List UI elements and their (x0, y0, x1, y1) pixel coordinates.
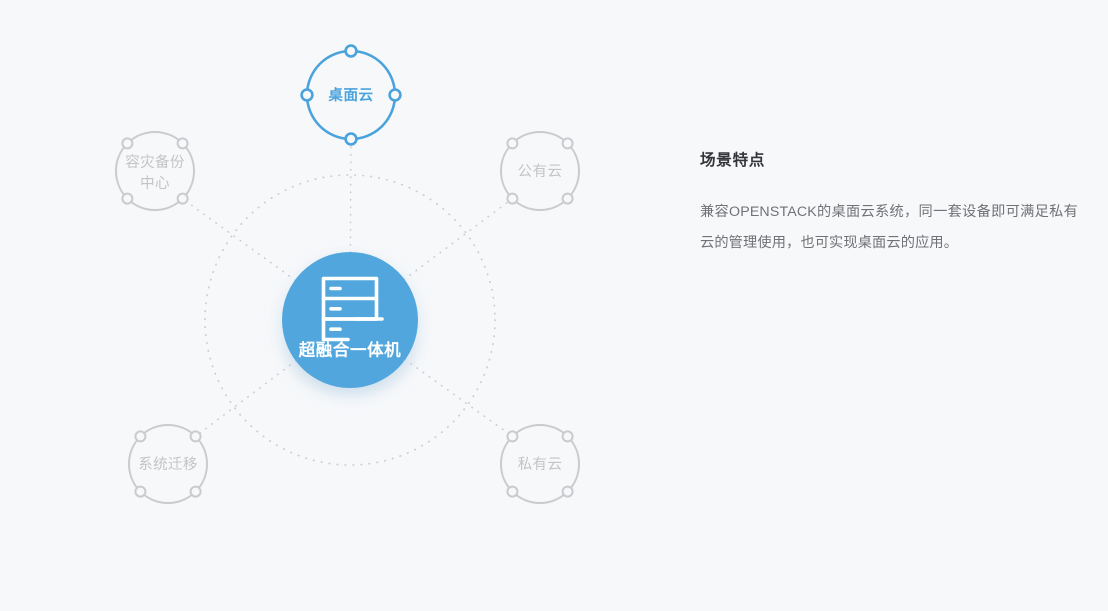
node-private-cloud[interactable]: 私有云 (501, 425, 579, 503)
handle-right (390, 90, 401, 101)
handle-sw (135, 487, 145, 497)
handle-se (563, 194, 573, 204)
node-public-cloud[interactable]: 公有云 (501, 132, 579, 210)
handle-ne (563, 431, 573, 441)
node-system-migration[interactable]: 系统迁移 (129, 425, 207, 503)
handle-se (178, 194, 188, 204)
panel-title: 场景特点 (700, 152, 1078, 171)
scenario-diagram: 容灾备份 中心 公有云 (0, 0, 700, 611)
handle-top (346, 46, 357, 57)
handle-ne (563, 138, 573, 148)
handle-nw (122, 138, 132, 148)
handle-ne (191, 431, 201, 441)
panel-body-text: 兼容OPENSTACK的桌面云系统，同一套设备即可满足私有云的管理使用，也可实现… (700, 197, 1078, 259)
node-label: 公有云 (518, 163, 563, 180)
node-label-line2: 中心 (140, 175, 170, 192)
node-desktop-cloud[interactable]: 桌面云 (302, 46, 401, 145)
diagram-canvas: 容灾备份 中心 公有云 (0, 0, 700, 611)
handle-left (302, 90, 313, 101)
handle-nw (135, 431, 145, 441)
handle-sw (507, 194, 517, 204)
node-label-line1: 容灾备份 (125, 154, 185, 171)
handle-bottom (346, 134, 357, 145)
handle-sw (122, 194, 132, 204)
handle-sw (507, 487, 517, 497)
handle-ne (178, 138, 188, 148)
node-label: 私有云 (518, 456, 563, 473)
handle-se (563, 487, 573, 497)
node-label: 系统迁移 (138, 456, 198, 473)
node-disaster-recovery-center[interactable]: 容灾备份 中心 (116, 132, 194, 210)
hub-label: 超融合一体机 (299, 339, 402, 359)
handle-nw (507, 431, 517, 441)
scenario-features-panel: 场景特点 兼容OPENSTACK的桌面云系统，同一套设备即可满足私有云的管理使用… (700, 152, 1078, 259)
handle-se (191, 487, 201, 497)
handle-nw (507, 138, 517, 148)
hub-node-hyper-converged-appliance[interactable]: 超融合一体机 (282, 252, 418, 388)
node-handles (122, 138, 187, 203)
page-root: 容灾备份 中心 公有云 (0, 0, 1108, 611)
node-label: 桌面云 (327, 86, 373, 104)
